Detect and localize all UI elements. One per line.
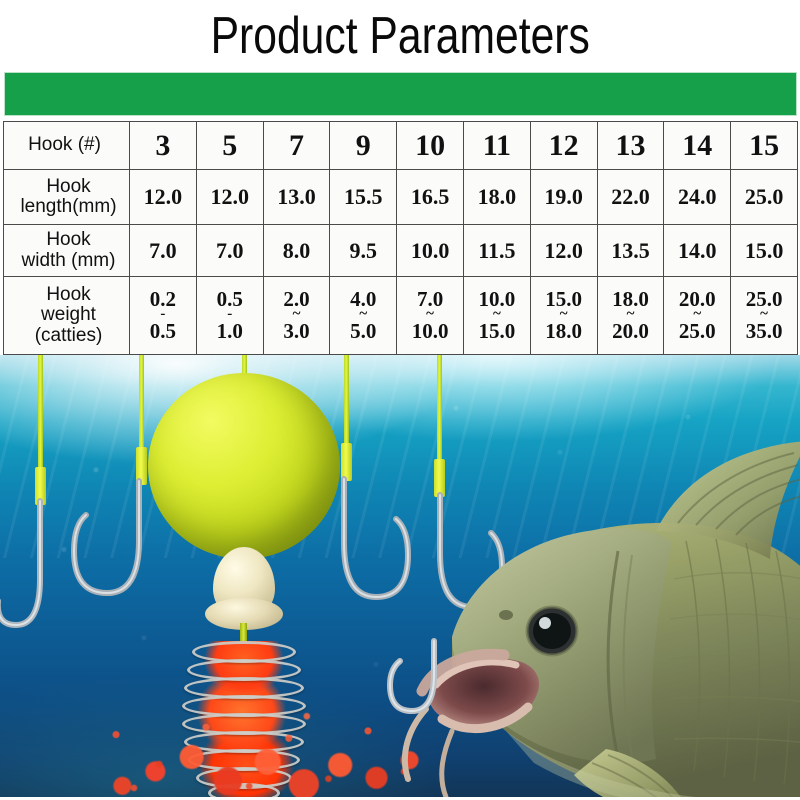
- cell-hook-number: 14: [664, 122, 731, 170]
- cell-hook-width: 11.5: [463, 225, 530, 277]
- cell-hook-number: 15: [731, 122, 798, 170]
- product-parameters-image: Product Parameters Hook (#) 3 5 7 9 10 1…: [0, 0, 800, 800]
- cell-hook-weight: 20.0 ~ 25.0: [664, 277, 731, 355]
- cell-hook-length: 18.0: [463, 170, 530, 225]
- cell-hook-number: 13: [597, 122, 664, 170]
- cell-hook-length: 13.0: [263, 170, 330, 225]
- table-row-hook-weight: Hook weight (catties) 0.2 - 0.5 0.5 - 1.…: [4, 277, 798, 355]
- cell-hook-number: 3: [130, 122, 197, 170]
- cell-hook-width: 12.0: [530, 225, 597, 277]
- cell-hook-number: 11: [463, 122, 530, 170]
- cell-hook-width: 7.0: [130, 225, 197, 277]
- cell-hook-number: 10: [397, 122, 464, 170]
- cell-hook-length: 24.0: [664, 170, 731, 225]
- cell-hook-length: 12.0: [196, 170, 263, 225]
- cell-hook-number: 7: [263, 122, 330, 170]
- cell-hook-length: 15.5: [330, 170, 397, 225]
- page-title: Product Parameters: [210, 10, 589, 62]
- cell-hook-weight: 4.0 ~ 5.0: [330, 277, 397, 355]
- cell-hook-width: 13.5: [597, 225, 664, 277]
- cell-hook-width: 8.0: [263, 225, 330, 277]
- cell-hook-width: 10.0: [397, 225, 464, 277]
- cell-hook-weight: 2.0 ~ 3.0: [263, 277, 330, 355]
- cell-hook-length: 19.0: [530, 170, 597, 225]
- row-label-hook-number: Hook (#): [4, 122, 130, 170]
- cell-hook-length: 22.0: [597, 170, 664, 225]
- cell-hook-length: 25.0: [731, 170, 798, 225]
- fishing-leader-line: [38, 355, 43, 471]
- cell-hook-width: 14.0: [664, 225, 731, 277]
- table-row-hook-length: Hook length(mm) 12.0 12.0 13.0 15.5 16.5…: [4, 170, 798, 225]
- table-row-hook-width: Hook width (mm) 7.0 7.0 8.0 9.5 10.0 11.…: [4, 225, 798, 277]
- row-label-hook-width: Hook width (mm): [4, 225, 130, 277]
- cell-hook-weight: 7.0 ~ 10.0: [397, 277, 464, 355]
- cell-hook-weight: 18.0 ~ 20.0: [597, 277, 664, 355]
- hook-shrink-tube-sleeve: [341, 443, 352, 481]
- cell-hook-weight: 25.0 ~ 35.0: [731, 277, 798, 355]
- cell-hook-width: 7.0: [196, 225, 263, 277]
- cell-hook-width: 9.5: [330, 225, 397, 277]
- row-label-hook-length: Hook length(mm): [4, 170, 130, 225]
- cell-hook-number: 5: [196, 122, 263, 170]
- cell-hook-weight: 0.2 - 0.5: [130, 277, 197, 355]
- carp-fish: [356, 419, 800, 797]
- spec-table-wrap: Hook (#) 3 5 7 9 10 11 12 13 14 15 Hook …: [0, 116, 800, 355]
- product-photo: [0, 355, 800, 797]
- cell-hook-weight: 15.0 ~ 18.0: [530, 277, 597, 355]
- title-bar: Product Parameters: [0, 0, 800, 72]
- cell-hook-weight: 0.5 - 1.0: [196, 277, 263, 355]
- cell-hook-weight: 10.0 ~ 15.0: [463, 277, 530, 355]
- table-row-hook-number: Hook (#) 3 5 7 9 10 11 12 13 14 15: [4, 122, 798, 170]
- green-accent-bar: [4, 72, 797, 116]
- cell-hook-number: 9: [330, 122, 397, 170]
- cell-hook-number: 12: [530, 122, 597, 170]
- cell-hook-length: 16.5: [397, 170, 464, 225]
- float-ball: [148, 373, 340, 559]
- row-label-hook-weight: Hook weight (catties): [4, 277, 130, 355]
- cell-hook-length: 12.0: [130, 170, 197, 225]
- spec-table: Hook (#) 3 5 7 9 10 11 12 13 14 15 Hook …: [3, 121, 798, 355]
- cell-hook-width: 15.0: [731, 225, 798, 277]
